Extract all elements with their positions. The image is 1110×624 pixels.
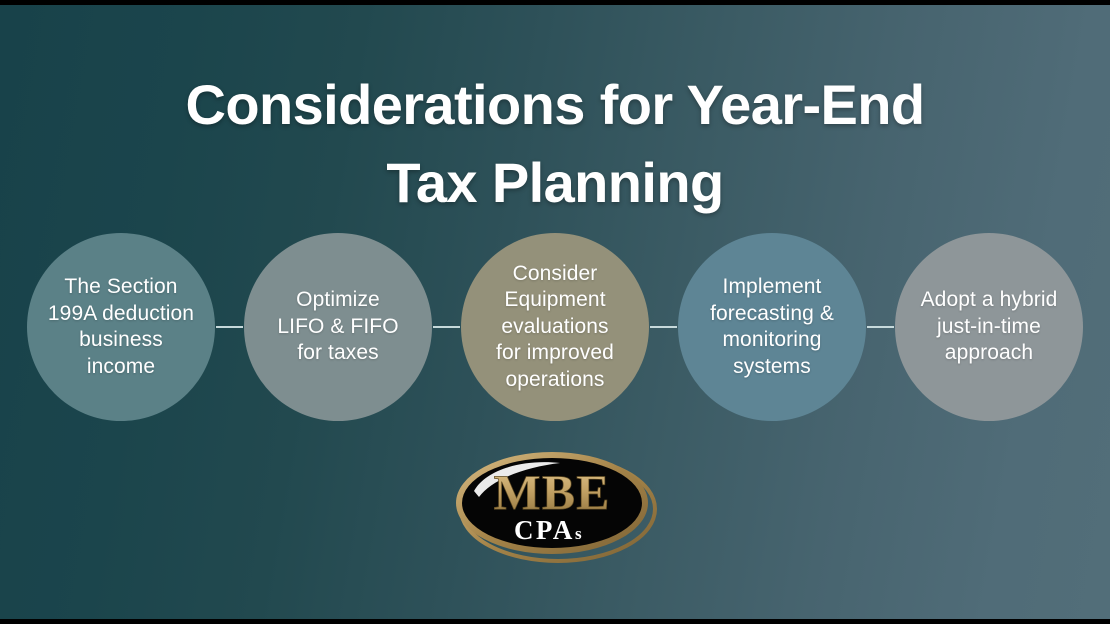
title-line-2: Tax Planning [0, 144, 1110, 222]
step-connector-4-5 [867, 326, 894, 328]
slide-canvas: Considerations for Year-End Tax Planning… [0, 0, 1110, 624]
step-connector-3-4 [650, 326, 677, 328]
step-label-4: Implement forecasting & monitoring syste… [698, 274, 846, 380]
step-label-1: The Section 199A deduction business inco… [36, 274, 206, 380]
letterbox-bottom [0, 619, 1110, 624]
step-label-2: Optimize LIFO & FIFO for taxes [265, 287, 410, 367]
process-step-5[interactable]: Adopt a hybrid just-in-time approach [895, 233, 1083, 421]
step-connector-1-2 [216, 326, 243, 328]
process-step-2[interactable]: Optimize LIFO & FIFO for taxes [244, 233, 432, 421]
logo-mbe-text: MBE [494, 464, 611, 520]
process-step-3[interactable]: Consider Equipment evaluations for impro… [461, 233, 649, 421]
step-label-5: Adopt a hybrid just-in-time approach [909, 287, 1070, 367]
step-circle-5[interactable]: Adopt a hybrid just-in-time approach [895, 233, 1083, 421]
step-circle-4[interactable]: Implement forecasting & monitoring syste… [678, 233, 866, 421]
letterbox-top [0, 0, 1110, 5]
logo-cpas-text: CPAs [514, 515, 584, 545]
step-connector-2-3 [433, 326, 460, 328]
mbe-cpas-logo: MBE CPAs [452, 447, 658, 565]
process-step-1[interactable]: The Section 199A deduction business inco… [27, 233, 215, 421]
step-circle-2[interactable]: Optimize LIFO & FIFO for taxes [244, 233, 432, 421]
process-steps-row: The Section 199A deduction business inco… [0, 229, 1110, 425]
step-label-3: Consider Equipment evaluations for impro… [484, 261, 626, 394]
process-step-4[interactable]: Implement forecasting & monitoring syste… [678, 233, 866, 421]
title-line-1: Considerations for Year-End [0, 66, 1110, 144]
step-circle-3[interactable]: Consider Equipment evaluations for impro… [461, 233, 649, 421]
slide-title: Considerations for Year-End Tax Planning [0, 66, 1110, 222]
step-circle-1[interactable]: The Section 199A deduction business inco… [27, 233, 215, 421]
